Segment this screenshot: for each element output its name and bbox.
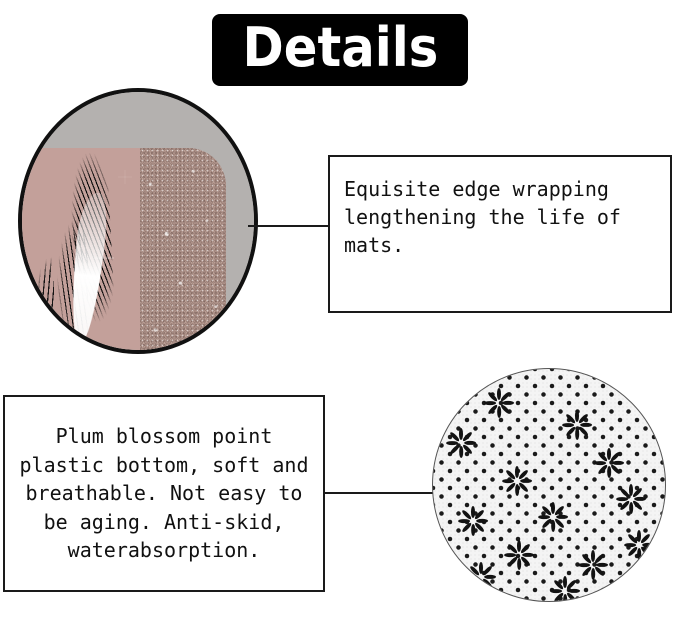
sparkle-icon	[58, 158, 68, 168]
plum-blossom-rosette	[461, 557, 501, 597]
details-title-banner: Details	[212, 14, 468, 86]
sparkle-icon	[118, 170, 132, 184]
sparkle-icon	[94, 248, 114, 268]
sparkle-icon	[132, 238, 140, 246]
plum-blossom-rosette	[533, 497, 573, 537]
sparkle-icon	[162, 200, 174, 212]
plum-blossom-rosette	[611, 479, 651, 519]
details-title-text: Details	[242, 21, 438, 79]
plum-blossom-rosette	[479, 383, 519, 423]
connector-line-edge-wrapping	[248, 225, 330, 227]
glitter-speckle-overlay	[140, 148, 226, 354]
plum-blossom-rosette	[453, 501, 493, 541]
sparkle-icon	[190, 270, 199, 279]
plum-blossom-rosette	[545, 571, 585, 602]
plum-blossom-text: Plum blossom point plastic bottom, soft …	[15, 422, 313, 565]
sparkle-icon	[78, 290, 94, 306]
mat-edge-closeup-photo	[18, 88, 258, 354]
plum-blossom-rosette	[589, 443, 629, 483]
plum-blossom-rosette	[499, 535, 539, 575]
plum-blossom-rosette	[441, 423, 481, 463]
edge-wrapping-text-box: Equisite edge wrapping lengthening the l…	[328, 155, 672, 313]
plum-blossom-rosette	[497, 461, 537, 501]
plum-blossom-rosette	[619, 525, 659, 565]
plum-blossom-rosette	[557, 405, 597, 445]
connector-line-plum-blossom	[323, 492, 445, 494]
edge-wrapping-text: Equisite edge wrapping lengthening the l…	[344, 175, 656, 293]
sparkle-icon	[66, 330, 78, 342]
feather-barbs-edge	[18, 242, 54, 354]
anti-skid-backing-photo	[432, 368, 666, 602]
plum-blossom-text-box: Plum blossom point plastic bottom, soft …	[3, 395, 325, 592]
